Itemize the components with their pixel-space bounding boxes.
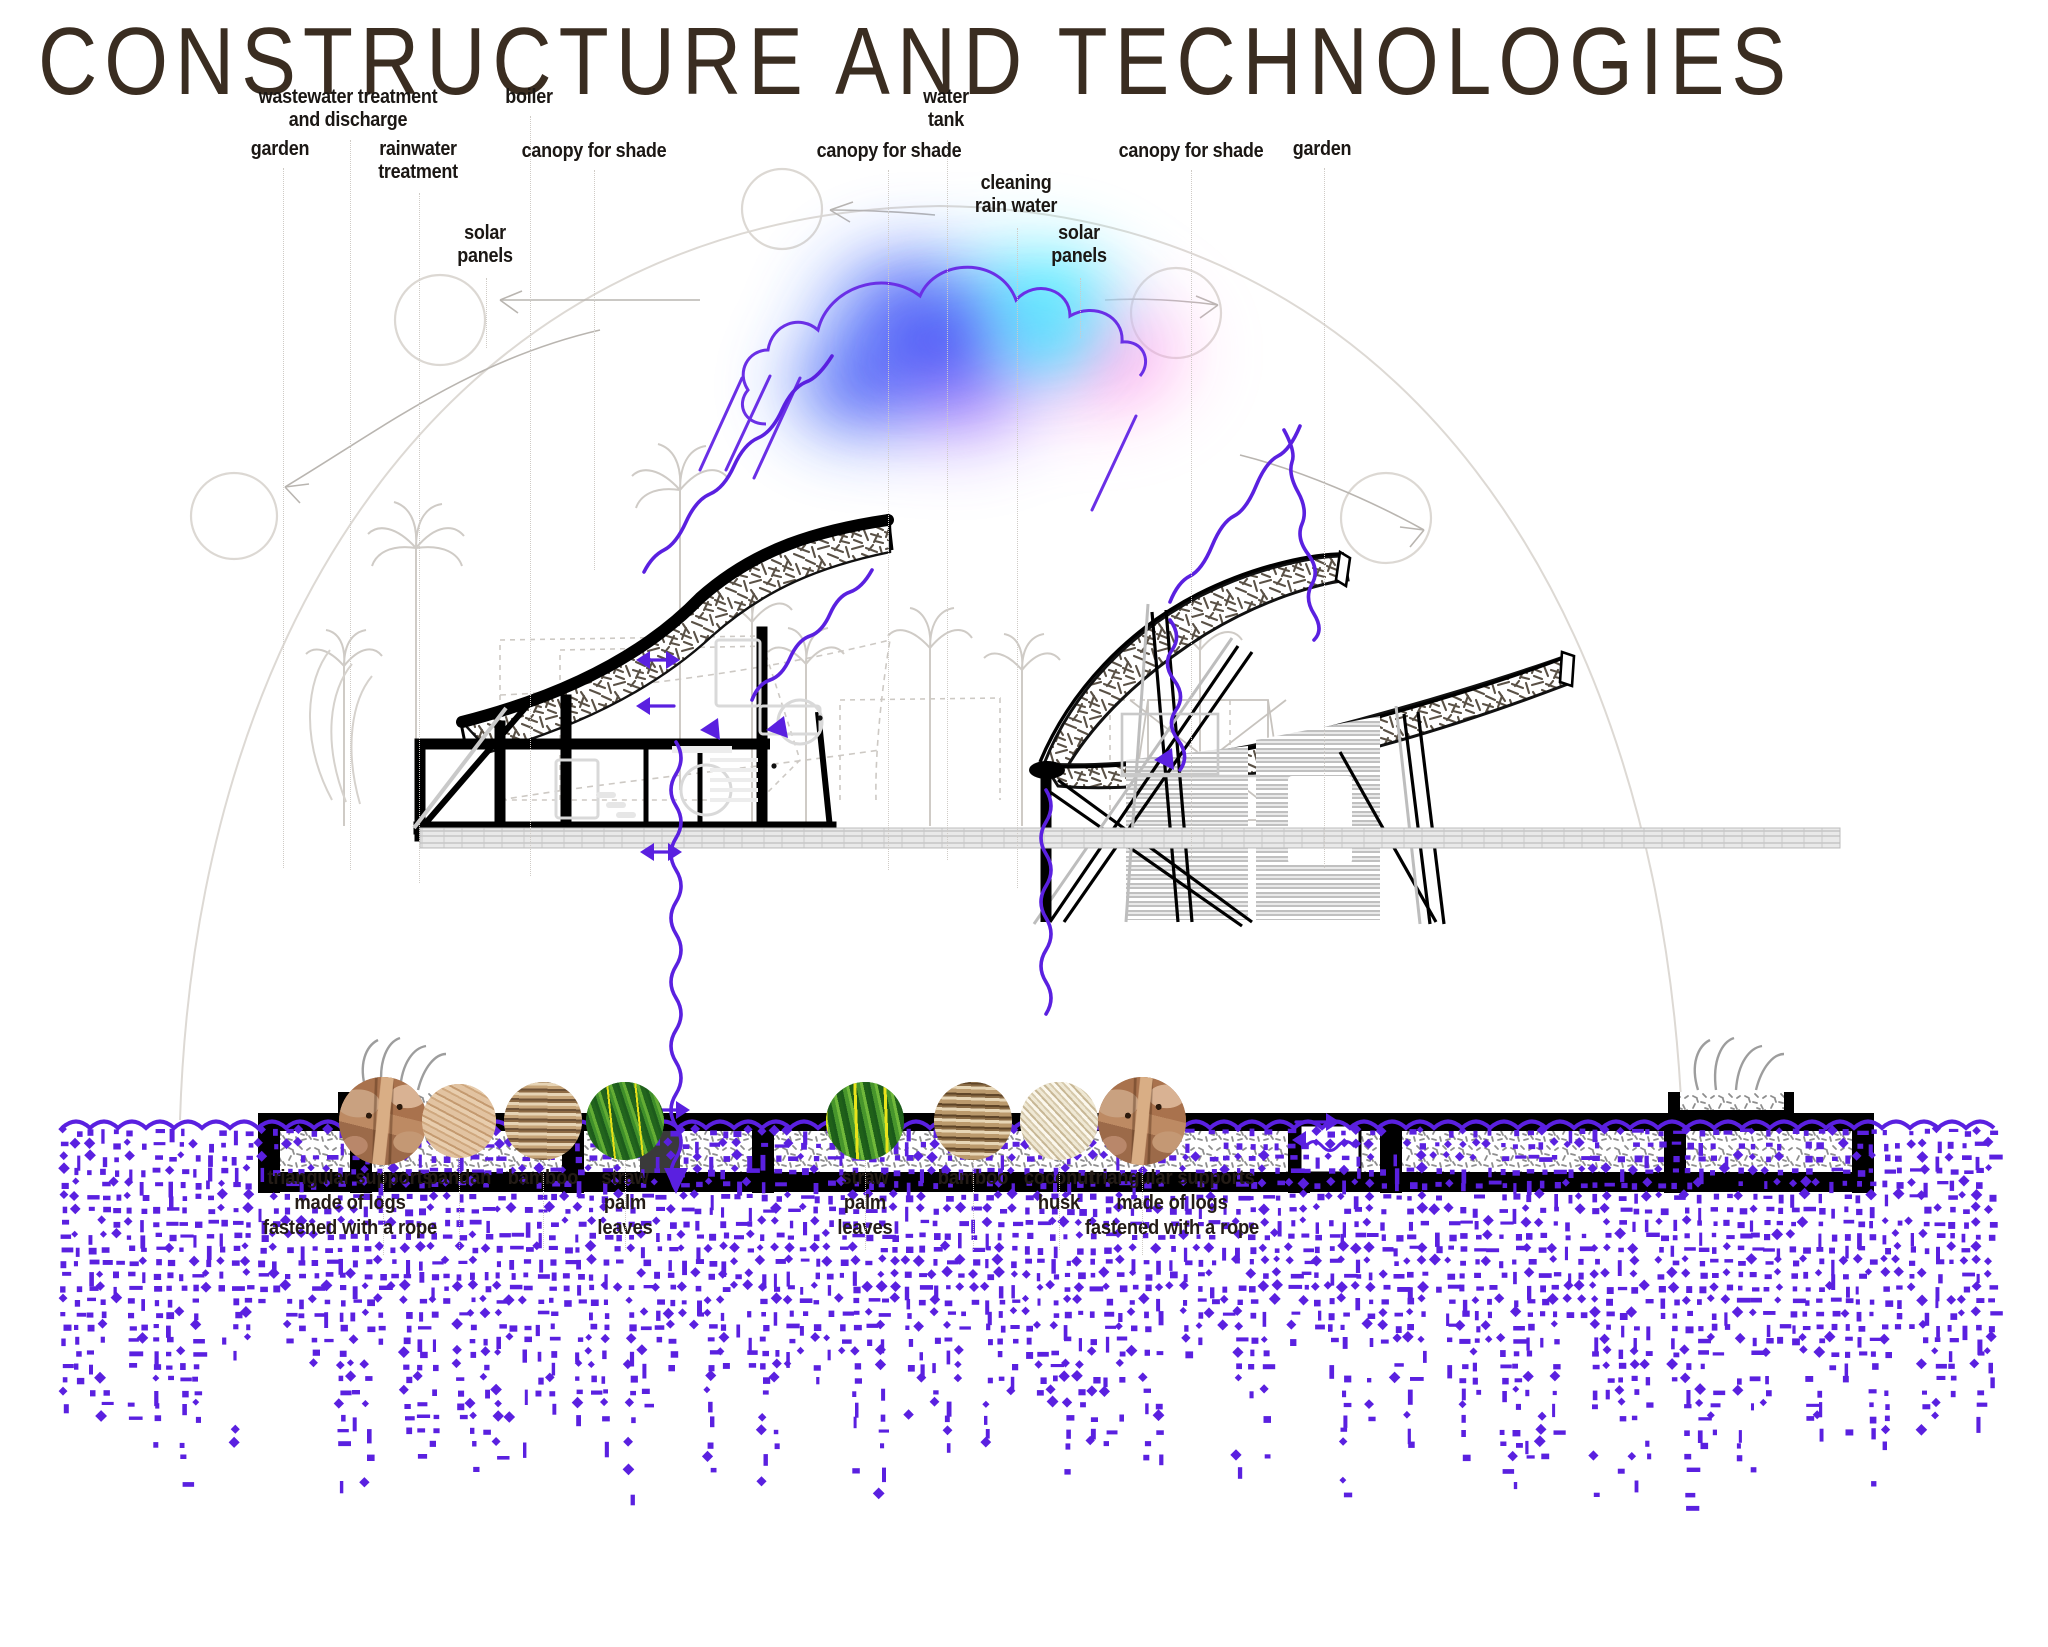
material-texture-bamboo-left [504,1082,582,1160]
callout-water-tank: water tank [923,86,969,132]
material-leader-straw-palm-leaves-left [625,1160,626,1250]
callout-wastewater: wastewater treatment and discharge [259,86,438,132]
leader-line-wastewater [350,140,351,870]
callout-garden-left: garden [251,138,309,161]
leader-line-solar-panels-left [486,278,487,348]
leader-line-cleaning-rain-water [1017,228,1018,888]
leader-line-rainwater-treatment [419,193,420,883]
material-leader-bamboo-right [973,1160,974,1250]
deck-slab [420,828,1840,848]
material-swatch-straw-palm-leaves-right [826,1082,904,1160]
leader-line-boiler [530,116,531,876]
callout-garden-right: garden [1293,138,1351,161]
material-texture-straw-palm-leaves-right [826,1082,904,1160]
leader-line-garden-left [283,168,284,868]
material-swatch-straw-palm-leaves-left [586,1082,664,1160]
rain-cloud [700,226,1216,510]
sun-icon [395,275,485,365]
material-texture-pandan [422,1084,496,1158]
callout-solar-panels-left: solar panels [457,222,512,268]
section-drawing [0,0,2048,1647]
material-texture-coconut-husk [1020,1082,1098,1160]
material-texture-straw-palm-leaves-left [586,1082,664,1160]
sun-icon [191,473,277,559]
material-texture-triangular-supports-left [339,1077,427,1165]
callout-canopy-shade-mid: canopy for shade [817,140,962,163]
leader-line-water-tank [947,140,948,860]
material-leader-triangular-supports-left [383,1165,384,1255]
callout-boiler: boiler [505,86,552,109]
material-texture-triangular-supports-right [1098,1077,1186,1165]
material-leader-pandan [459,1158,460,1248]
material-label-triangular-supports-right: triangular supports made of logs fastene… [1085,1166,1259,1241]
material-swatch-bamboo-right [934,1082,1012,1160]
leader-line-solar-panels-right [1080,278,1081,338]
leader-line-canopy-shade-left [594,170,595,570]
sun-icon [742,169,822,249]
material-swatch-pandan [422,1084,496,1158]
diagram-board: CONSTRUCTURE AND TECHNOLOGIES [0,0,2048,1647]
material-swatch-triangular-supports-right [1098,1077,1186,1165]
leader-line-garden-right [1324,168,1325,868]
material-leader-coconut-husk [1059,1160,1060,1250]
left-pavilion [414,514,892,836]
callout-cleaning-rain-water: cleaning rain water [975,172,1057,218]
material-leader-triangular-supports-right [1142,1165,1143,1255]
leader-line-canopy-shade-mid [888,170,889,870]
material-leader-bamboo-left [543,1160,544,1250]
sun-icon [1341,473,1431,563]
callout-canopy-shade-right: canopy for shade [1119,140,1264,163]
callout-rainwater-treatment: rainwater treatment [378,138,458,184]
callout-canopy-shade-left: canopy for shade [522,140,667,163]
material-label-triangular-supports-left: triangular supports made of logs fastene… [263,1166,437,1241]
material-swatch-triangular-supports-left [339,1077,427,1165]
leader-line-canopy-shade-right [1191,170,1192,860]
material-texture-bamboo-right [934,1082,1012,1160]
callout-solar-panels-right: solar panels [1051,222,1106,268]
material-swatch-bamboo-left [504,1082,582,1160]
material-leader-straw-palm-leaves-right [865,1160,866,1250]
material-swatch-coconut-husk [1020,1082,1098,1160]
